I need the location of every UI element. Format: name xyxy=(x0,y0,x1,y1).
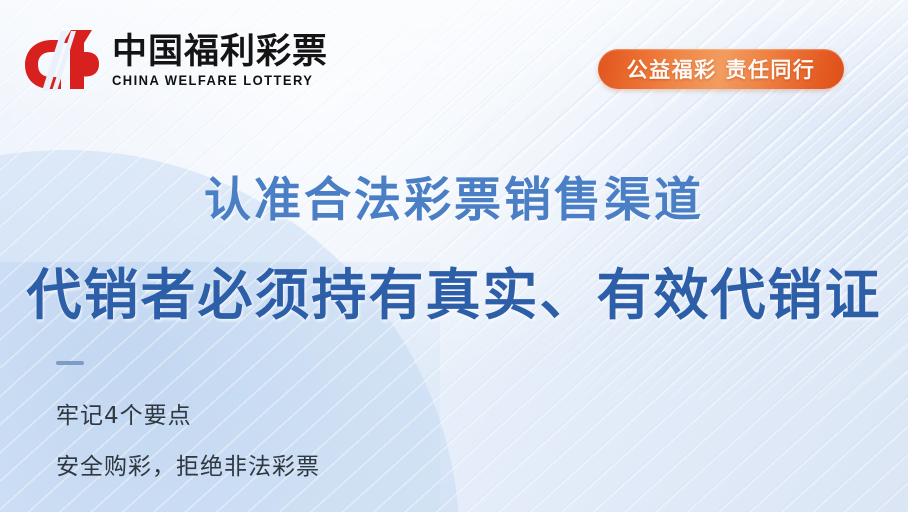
slogan-badge: 公益福彩 责任同行 xyxy=(598,49,844,89)
banner-header: 中国福利彩票 CHINA WELFARE LOTTERY 公益福彩 责任同行 xyxy=(0,0,908,130)
brand-name-chinese: 中国福利彩票 xyxy=(112,34,328,71)
brand-name-english: CHINA WELFARE LOTTERY xyxy=(112,74,319,89)
headline-primary: 认准合法彩票销售渠道 xyxy=(0,172,908,229)
slogan-badge-label: 公益福彩 责任同行 xyxy=(627,54,816,84)
section-divider xyxy=(56,361,84,365)
lottery-notice-banner: 中国福利彩票 CHINA WELFARE LOTTERY 公益福彩 责任同行 认… xyxy=(0,0,908,512)
china-welfare-lottery-emblem-icon xyxy=(22,28,100,92)
note-line-2: 安全购彩，拒绝非法彩票 xyxy=(56,447,320,481)
headline-secondary: 代销者必须持有真实、有效代销证 xyxy=(0,262,908,328)
brand-wordmark: 中国福利彩票 CHINA WELFARE LOTTERY xyxy=(112,32,328,89)
brand-logo: 中国福利彩票 CHINA WELFARE LOTTERY xyxy=(22,28,328,92)
note-line-1: 牢记4个要点 xyxy=(56,396,192,430)
